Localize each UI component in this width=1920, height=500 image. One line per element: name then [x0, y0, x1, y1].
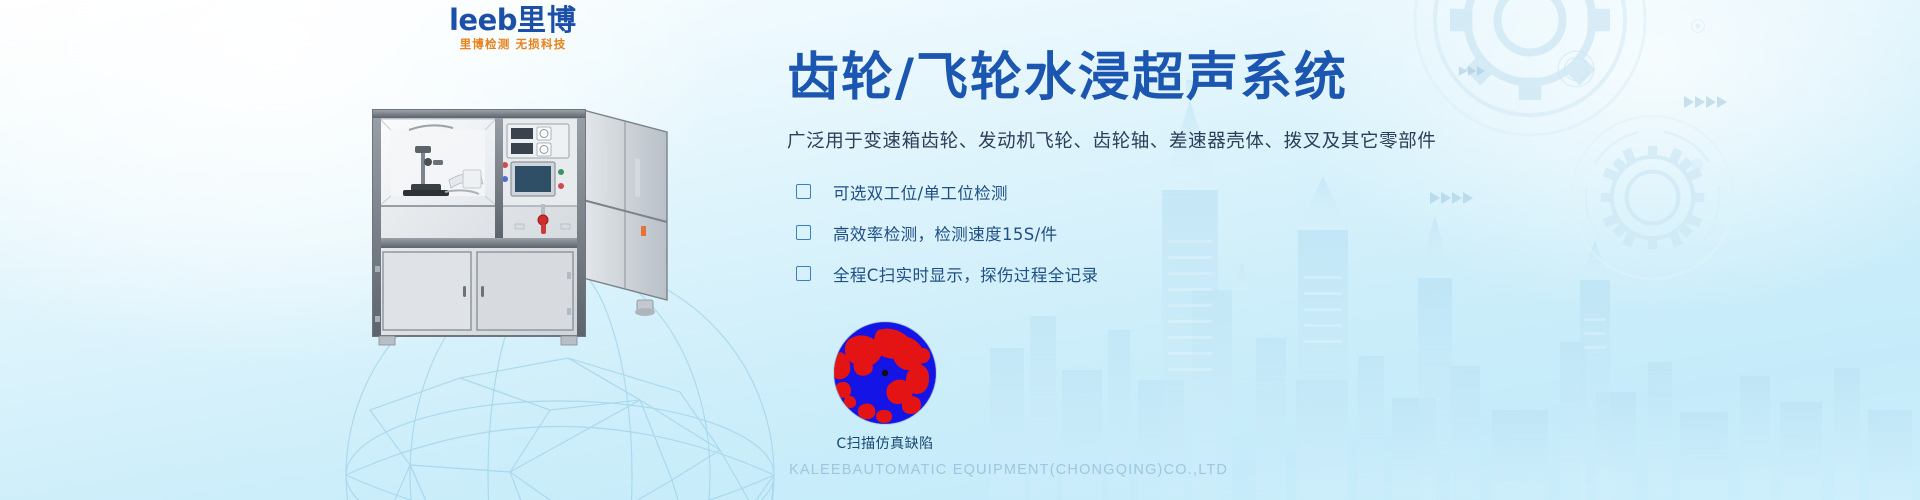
logo-wordmark: leeb里博: [418, 6, 608, 35]
feature-list: 可选双工位/单工位检测 高效率检测，检测速度15S/件 全程C扫实时显示，探伤过…: [787, 175, 1847, 290]
list-item: 全程C扫实时显示，探伤过程全记录: [787, 257, 1847, 290]
company-watermark: KALEEBAUTOMATIC EQUIPMENT(CHONGQING)CO.,…: [789, 462, 1228, 478]
checkbox-empty-icon: [796, 184, 811, 199]
feature-label: 高效率检测，检测速度15S/件: [833, 221, 1058, 245]
feature-label: 可选双工位/单工位检测: [833, 180, 1008, 204]
promo-banner: leeb里博 里博检测 无损科技: [0, 0, 1920, 500]
list-item: 高效率检测，检测速度15S/件: [787, 216, 1847, 249]
feature-label: 全程C扫实时显示，探伤过程全记录: [833, 262, 1098, 286]
cscan-image: [834, 322, 936, 424]
cscan-defect-map: [834, 322, 936, 424]
small-ring-icon: [1690, 18, 1706, 34]
checkbox-empty-icon: [796, 225, 811, 240]
logo-tagline: 里博检测 无损科技: [418, 39, 608, 51]
list-item: 可选双工位/单工位检测: [787, 175, 1847, 208]
hero-content: 齿轮/飞轮水浸超声系统 广泛用于变速箱齿轮、发动机飞轮、齿轮轴、差速器壳体、拨叉…: [787, 48, 1847, 298]
cscan-caption: C扫描仿真缺陷: [800, 433, 970, 453]
hero-subtitle: 广泛用于变速箱齿轮、发动机飞轮、齿轮轴、差速器壳体、拨叉及其它零部件: [787, 127, 1847, 153]
logo-chinese-text: 里博: [517, 3, 577, 37]
cscan-thumbnail: C扫描仿真缺陷: [800, 322, 970, 453]
product-photo-ultrasonic-machine: [345, 100, 675, 360]
brand-logo[interactable]: leeb里博 里博检测 无损科技: [418, 6, 608, 51]
checkbox-empty-icon: [796, 266, 811, 281]
logo-latin-text: leeb: [449, 3, 517, 37]
page-title: 齿轮/飞轮水浸超声系统: [787, 48, 1847, 109]
